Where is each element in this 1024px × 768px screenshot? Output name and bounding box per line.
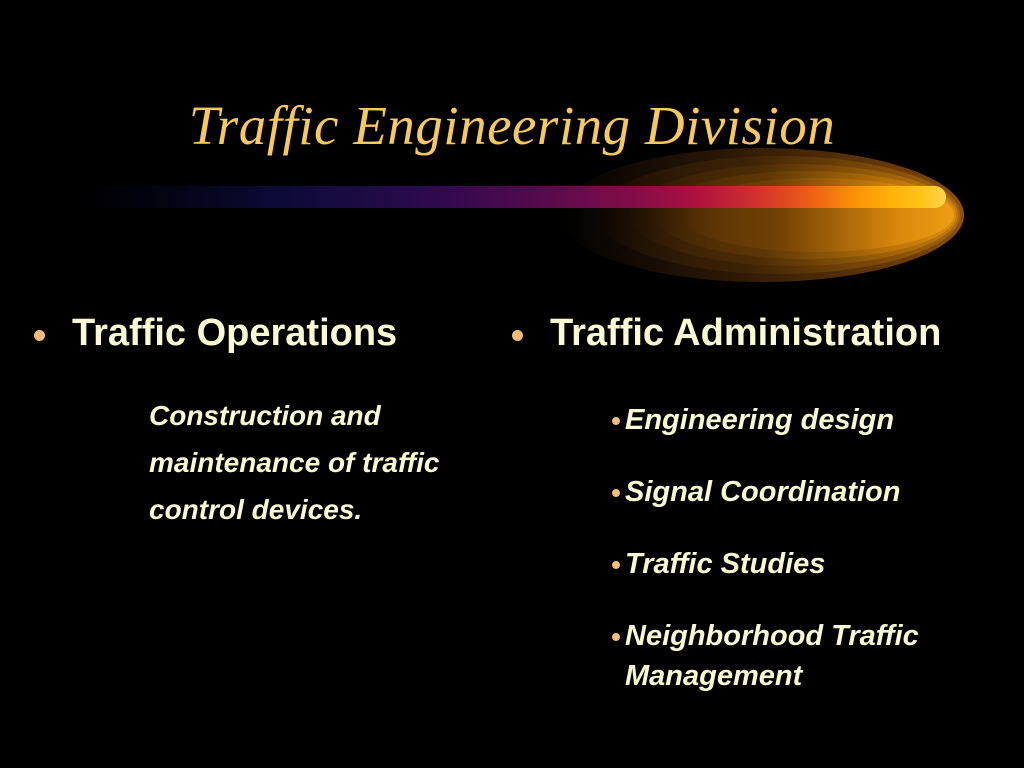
sub-bullet-item: Signal Coordination (612, 472, 1024, 512)
sub-bullet-item: Engineering design (612, 400, 1024, 440)
sub-bullet-dot-icon (612, 561, 620, 569)
sub-bullet-dot-icon (612, 489, 620, 497)
bullet-label-traffic-administration: Traffic Administration (550, 310, 941, 356)
comet-streak-bar (80, 186, 946, 208)
sub-bullet-label-neighborhood-traffic-management: Neighborhood Traffic Management (625, 616, 1024, 696)
bullet-dot-icon (34, 330, 45, 341)
comet-halo-ring-5 (680, 178, 954, 252)
content-column-traffic-operations: Traffic Operations Construction and main… (34, 310, 504, 356)
presentation-slide: Traffic Engineering Division Traffic Ope… (0, 0, 1024, 768)
bullet-traffic-administration: Traffic Administration (512, 310, 1024, 356)
sub-bullet-list: Engineering design Signal Coordination T… (612, 400, 1024, 728)
bullet-dot-icon (512, 330, 523, 341)
sub-bullet-item: Traffic Studies (612, 544, 1024, 584)
content-column-traffic-administration: Traffic Administration Engineering desig… (512, 310, 1024, 356)
body-text-traffic-operations: Construction and maintenance of traffic … (149, 392, 449, 533)
comet-halo-ring-3 (630, 164, 958, 266)
sub-bullet-dot-icon (612, 633, 620, 641)
bullet-traffic-operations: Traffic Operations (34, 310, 504, 356)
sub-bullet-label-signal-coordination: Signal Coordination (625, 472, 901, 512)
sub-bullet-dot-icon (612, 417, 620, 425)
sub-bullet-label-engineering-design: Engineering design (625, 400, 894, 440)
bullet-label-traffic-operations: Traffic Operations (72, 310, 397, 356)
comet-streak-banner (0, 140, 1024, 300)
sub-bullet-label-traffic-studies: Traffic Studies (625, 544, 825, 584)
comet-halo-ring-4 (656, 171, 956, 259)
sub-bullet-item: Neighborhood Traffic Management (612, 616, 1024, 696)
comet-halo-ring-1 (560, 148, 964, 282)
slide-title: Traffic Engineering Division (0, 96, 1024, 156)
comet-halo-ring-2 (598, 156, 960, 274)
